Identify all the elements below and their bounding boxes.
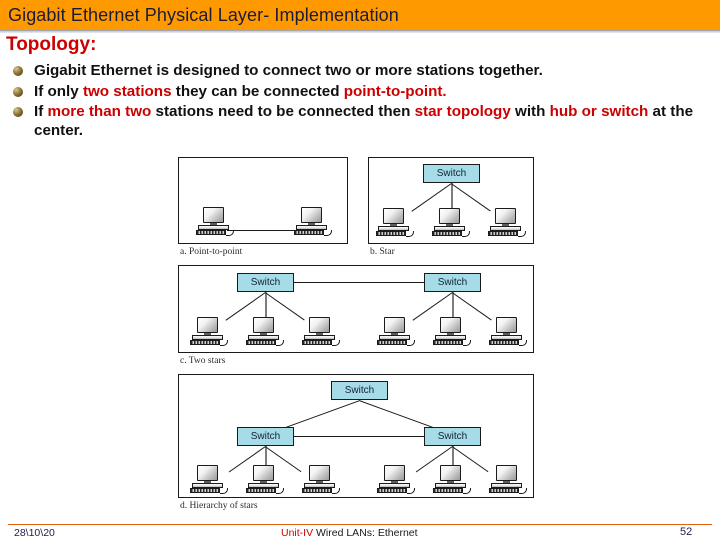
monitor-icon	[309, 465, 330, 481]
section-heading: Topology:	[6, 34, 96, 56]
monitor-icon	[301, 207, 322, 223]
panel-caption-a: a. Point-to-point	[180, 247, 242, 257]
mouse-icon	[226, 230, 234, 236]
mouse-icon	[463, 340, 471, 346]
mouse-icon	[324, 230, 332, 236]
list-item: Gigabit Ethernet is designed to connect …	[8, 62, 714, 81]
computer-icon	[302, 465, 340, 495]
computer-icon	[433, 317, 471, 347]
switch-to-switch-line	[294, 282, 424, 283]
bullet-sphere-icon	[13, 87, 23, 97]
computer-icon	[432, 208, 470, 238]
panel-caption-b: b. Star	[370, 247, 395, 257]
topology-figure: a. Point-to-point Switch b. S	[0, 152, 720, 520]
mouse-icon	[407, 340, 415, 346]
monitor-icon	[384, 317, 405, 333]
footer-unit: Unit-IV	[281, 527, 313, 539]
panel-caption-d: d. Hierarchy of stars	[180, 501, 258, 511]
slide-number: 52	[680, 526, 692, 538]
mouse-icon	[332, 488, 340, 494]
monitor-icon	[197, 317, 218, 333]
keyboard-icon	[302, 340, 332, 345]
monitor-icon	[496, 465, 517, 481]
computer-icon	[302, 317, 340, 347]
footer-subject-text: Wired LANs: Ethernet	[313, 527, 417, 539]
connection-line	[451, 183, 453, 211]
footer-date: 28\10\20	[14, 527, 55, 539]
keyboard-icon	[190, 488, 220, 493]
keyboard-icon	[302, 488, 332, 493]
switch-to-switch-line	[294, 436, 424, 437]
mouse-icon	[463, 488, 471, 494]
mouse-icon	[407, 488, 415, 494]
mouse-icon	[462, 231, 470, 237]
computer-icon	[377, 317, 415, 347]
bullet-text-3: If more than two stations need to be con…	[34, 103, 693, 139]
title-bar-shadow	[0, 30, 720, 33]
mouse-icon	[519, 488, 527, 494]
keyboard-icon	[489, 488, 519, 493]
monitor-icon	[384, 465, 405, 481]
keyboard-icon	[432, 231, 462, 236]
keyboard-icon	[433, 340, 463, 345]
switch-node-root: Switch	[331, 381, 388, 400]
footer-subject: Unit-IV Wired LANs: Ethernet	[281, 527, 418, 539]
computer-icon	[190, 317, 228, 347]
monitor-icon	[440, 465, 461, 481]
panel-two-stars: Switch Switch	[178, 265, 534, 353]
panel-star: Switch	[368, 157, 534, 244]
switch-node: Switch	[424, 427, 481, 446]
switch-node: Switch	[424, 273, 481, 292]
computer-icon	[190, 465, 228, 495]
monitor-icon	[495, 208, 516, 224]
keyboard-icon	[376, 231, 406, 236]
list-item: If only two stations they can be connect…	[8, 83, 714, 102]
mouse-icon	[519, 340, 527, 346]
keyboard-icon	[488, 231, 518, 236]
keyboard-icon	[433, 488, 463, 493]
bullet-text-1: Gigabit Ethernet is designed to connect …	[34, 62, 543, 79]
switch-node: Switch	[423, 164, 480, 183]
computer-icon	[376, 208, 414, 238]
computer-icon	[377, 465, 415, 495]
footer-divider	[8, 524, 712, 525]
mouse-icon	[276, 488, 284, 494]
keyboard-icon	[196, 230, 226, 235]
keyboard-icon	[190, 340, 220, 345]
computer-icon	[489, 317, 527, 347]
computer-icon	[246, 317, 284, 347]
connection-line	[452, 292, 454, 320]
connection-line	[227, 230, 297, 231]
bullet-text-2: If only two stations they can be connect…	[34, 83, 447, 100]
computer-icon	[196, 207, 234, 237]
switch-node: Switch	[237, 427, 294, 446]
computer-icon	[488, 208, 526, 238]
bullet-sphere-icon	[13, 66, 23, 76]
computer-icon	[489, 465, 527, 495]
mouse-icon	[406, 231, 414, 237]
keyboard-icon	[246, 488, 276, 493]
monitor-icon	[496, 317, 517, 333]
keyboard-icon	[246, 340, 276, 345]
monitor-icon	[253, 465, 274, 481]
mouse-icon	[518, 231, 526, 237]
computer-icon	[246, 465, 284, 495]
list-item: If more than two stations need to be con…	[8, 103, 714, 140]
keyboard-icon	[294, 230, 324, 235]
keyboard-icon	[489, 340, 519, 345]
keyboard-icon	[377, 488, 407, 493]
panel-hierarchy-of-stars: Switch Switch Switch	[178, 374, 534, 498]
panel-point-to-point	[178, 157, 348, 244]
slide-title-bar: Gigabit Ethernet Physical Layer- Impleme…	[0, 0, 720, 30]
mouse-icon	[332, 340, 340, 346]
bullet-list: Gigabit Ethernet is designed to connect …	[8, 62, 714, 142]
monitor-icon	[439, 208, 460, 224]
computer-icon	[433, 465, 471, 495]
slide-title: Gigabit Ethernet Physical Layer- Impleme…	[0, 5, 399, 26]
mouse-icon	[220, 488, 228, 494]
monitor-icon	[253, 317, 274, 333]
bullet-sphere-icon	[13, 107, 23, 117]
monitor-icon	[197, 465, 218, 481]
monitor-icon	[440, 317, 461, 333]
mouse-icon	[276, 340, 284, 346]
panel-caption-c: c. Two stars	[180, 356, 225, 366]
monitor-icon	[309, 317, 330, 333]
switch-node: Switch	[237, 273, 294, 292]
keyboard-icon	[377, 340, 407, 345]
mouse-icon	[220, 340, 228, 346]
monitor-icon	[203, 207, 224, 223]
monitor-icon	[383, 208, 404, 224]
connection-line	[265, 292, 267, 320]
computer-icon	[294, 207, 332, 237]
